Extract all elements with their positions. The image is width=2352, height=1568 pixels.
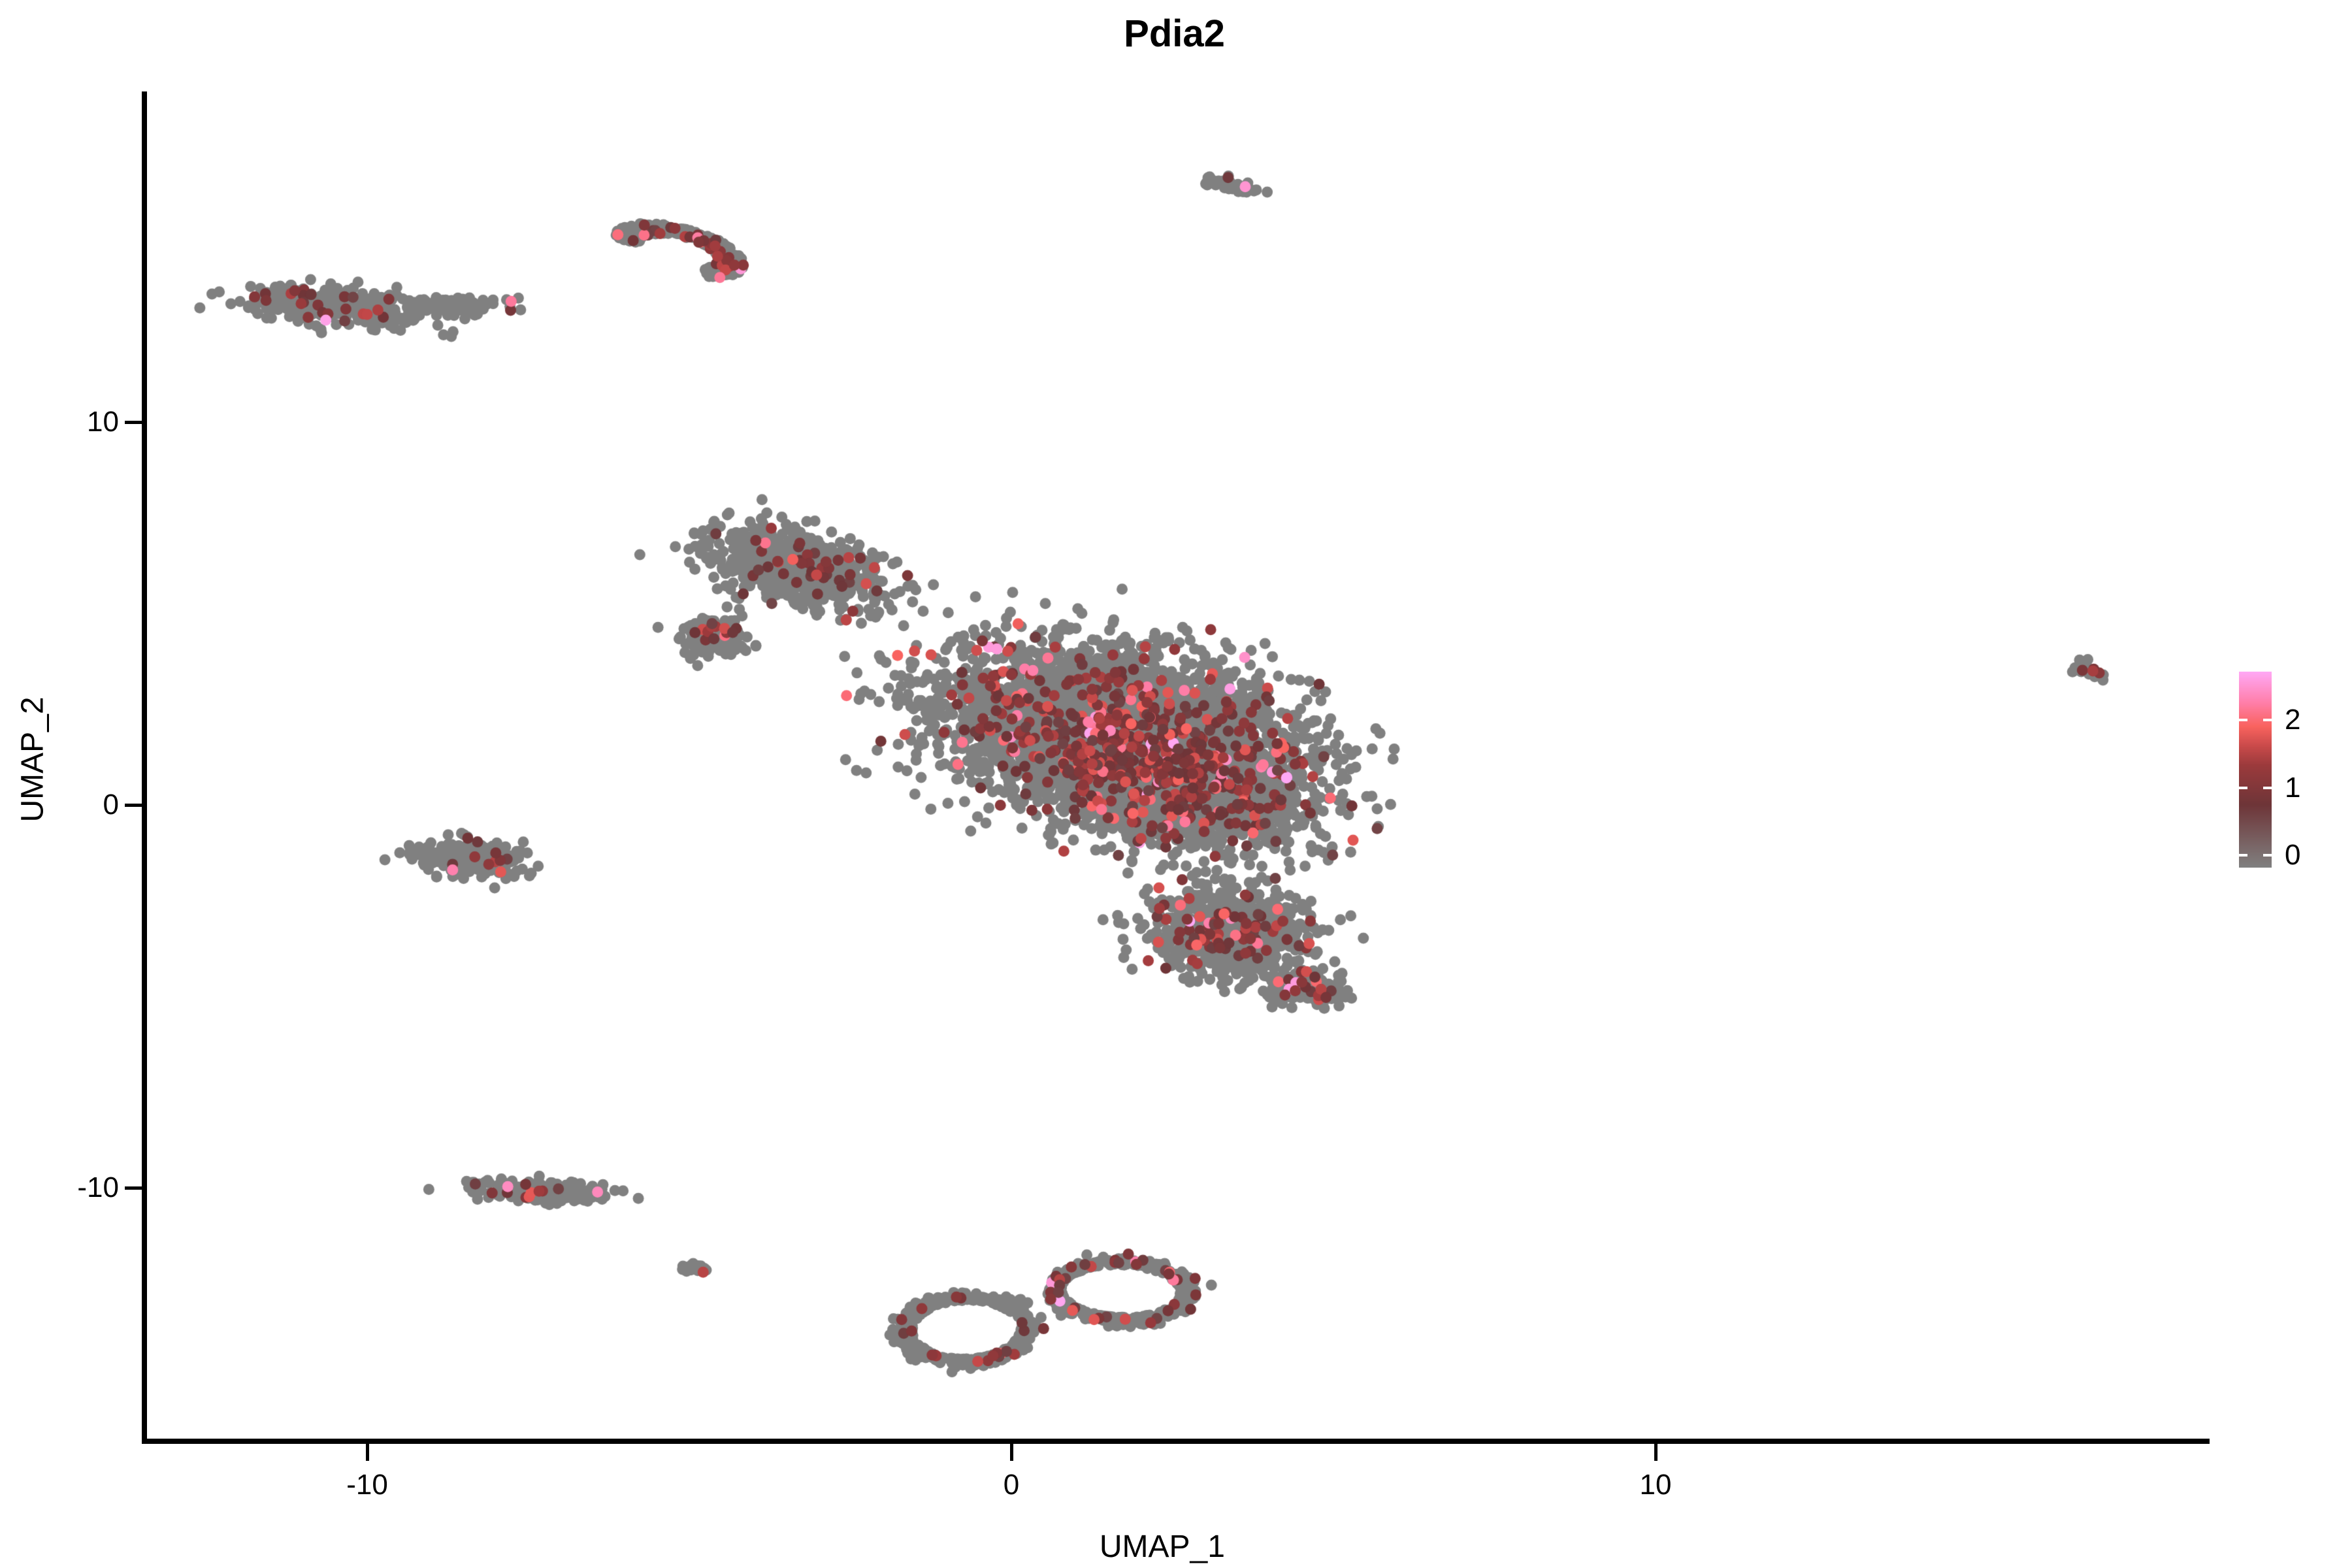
feature-plot: Pdia2 -10010 -10010 UMAP_1 UMAP_2 012 xyxy=(0,0,2352,1568)
y-tick-label: 0 xyxy=(103,789,119,821)
scatter-canvas xyxy=(144,91,2209,1441)
x-tick-mark xyxy=(366,1444,369,1461)
x-tick-label: 0 xyxy=(1004,1469,1019,1501)
y-tick-mark xyxy=(125,1186,142,1190)
plot-panel xyxy=(144,91,2209,1441)
legend-tick-mark xyxy=(2239,787,2272,789)
legend-tick-label: 0 xyxy=(2285,839,2300,872)
x-axis-title: UMAP_1 xyxy=(0,1529,2352,1565)
y-tick-label: 10 xyxy=(87,406,119,438)
legend-tick-mark xyxy=(2239,719,2272,721)
x-axis-title-text: UMAP_1 xyxy=(1100,1529,1225,1565)
plot-title: Pdia2 xyxy=(0,12,2352,56)
x-tick-mark xyxy=(1010,1444,1013,1461)
legend-tick-label: 1 xyxy=(2285,772,2300,804)
y-tick-label: -10 xyxy=(77,1171,119,1204)
plot-title-text: Pdia2 xyxy=(1124,12,1225,56)
x-tick-label: -10 xyxy=(346,1469,388,1501)
x-tick-mark xyxy=(1654,1444,1658,1461)
legend-tick-label: 2 xyxy=(2285,704,2300,736)
y-tick-mark xyxy=(125,421,142,424)
x-axis-line xyxy=(142,1439,2210,1444)
y-axis-title: UMAP_2 xyxy=(15,498,51,1021)
x-tick-label: 10 xyxy=(1640,1469,1672,1501)
y-axis-title-text: UMAP_2 xyxy=(16,696,50,822)
legend-tick-mark xyxy=(2239,854,2272,857)
y-tick-mark xyxy=(125,804,142,807)
y-axis-line xyxy=(142,91,147,1444)
legend-colorbar xyxy=(2239,672,2272,868)
